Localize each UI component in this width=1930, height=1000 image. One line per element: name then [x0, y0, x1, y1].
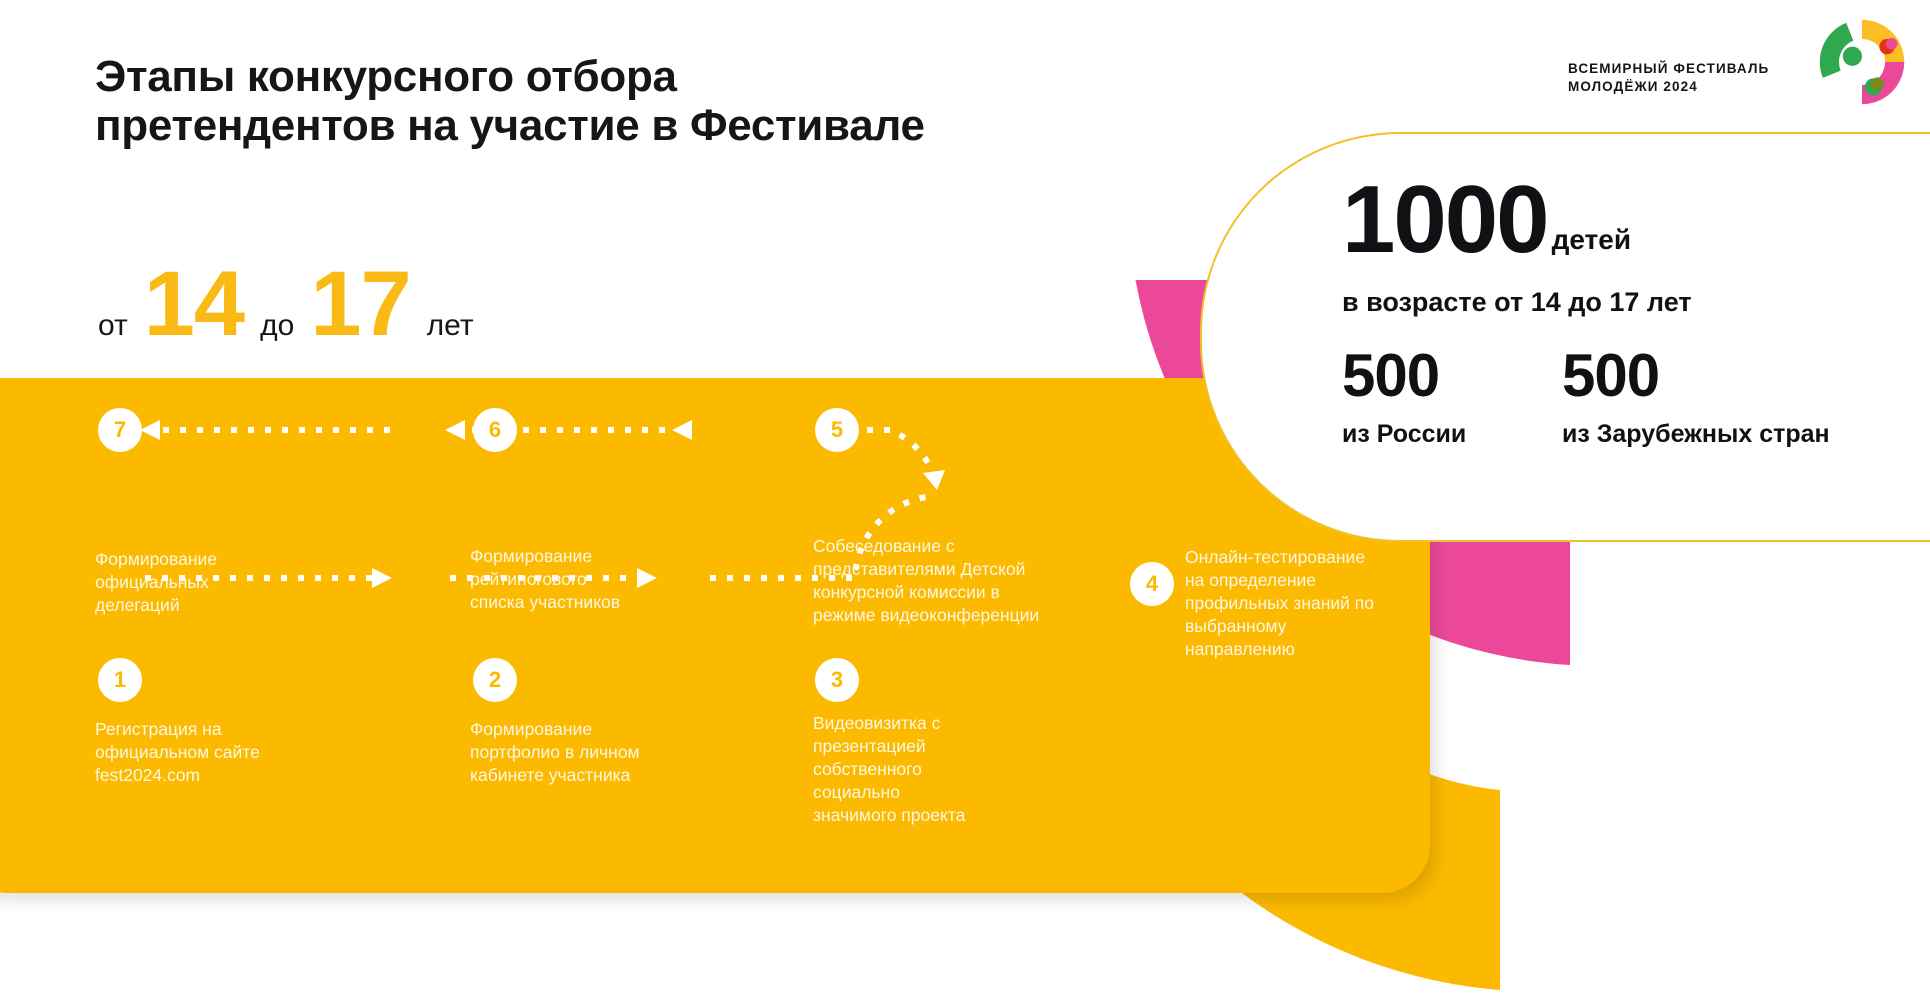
- logo-dot-pink: [1886, 38, 1898, 50]
- step-text-6: Формирование рейтиногового списка участн…: [470, 545, 730, 614]
- logo-wordmark: ВСЕМИРНЫЙ ФЕСТИВАЛЬ МОЛОДЁЖИ 2024: [1568, 60, 1798, 96]
- festival-logo: ВСЕМИРНЫЙ ФЕСТИВАЛЬ МОЛОДЁЖИ 2024: [1568, 14, 1918, 114]
- logo-dot-olive: [1871, 77, 1884, 90]
- step-node-6[interactable]: 6: [473, 408, 517, 452]
- step-node-2[interactable]: 2: [473, 658, 517, 702]
- step-node-7[interactable]: 7: [98, 408, 142, 452]
- step-number-6: 6: [489, 417, 501, 443]
- age-to-value: 17: [310, 258, 410, 350]
- total-value: 1000: [1342, 174, 1548, 265]
- step-number-4: 4: [1146, 571, 1158, 597]
- step-node-5[interactable]: 5: [815, 408, 859, 452]
- step-number-7: 7: [114, 417, 126, 443]
- total-unit-label: детей: [1552, 224, 1631, 265]
- step-node-4[interactable]: 4: [1130, 562, 1174, 606]
- step-number-3: 3: [831, 667, 843, 693]
- step-text-1: Регистрация на официальном сайте fest202…: [95, 718, 355, 787]
- age-note-label: в возрасте от 14 до 17 лет: [1342, 287, 1930, 318]
- infographic-canvas: Этапы конкурсного отбора претендентов на…: [0, 0, 1930, 1000]
- info-card: 1000 детей в возрасте от 14 до 17 лет 50…: [1200, 132, 1930, 542]
- step-text-7: Формирование официальных делегаций: [95, 548, 355, 617]
- age-middle-label: до: [260, 309, 294, 343]
- logo-dot-green: [1843, 47, 1862, 66]
- step-text-4: Онлайн-тестирование на определение профи…: [1185, 546, 1435, 661]
- total-row: 1000 детей: [1342, 174, 1930, 265]
- step-text-5: Собеседование с представителями Детской …: [813, 535, 1113, 627]
- split-foreign-value: 500: [1562, 346, 1902, 406]
- age-from-value: 14: [144, 258, 244, 350]
- festival-arc-logo-icon: [1814, 14, 1910, 110]
- step-number-1: 1: [114, 667, 126, 693]
- step-node-3[interactable]: 3: [815, 658, 859, 702]
- step-number-2: 2: [489, 667, 501, 693]
- age-prefix-label: от: [98, 309, 128, 343]
- age-suffix-label: лет: [427, 309, 474, 343]
- split-row: 500 из России 500 из Зарубежных стран: [1342, 346, 1930, 449]
- split-foreign: 500 из Зарубежных стран: [1562, 346, 1902, 449]
- age-range-line: от 14 до 17 лет: [98, 258, 474, 350]
- step-text-2: Формирование портфолио в личном кабинете…: [470, 718, 740, 787]
- step-text-3: Видеовизитка с презентацией собственного…: [813, 712, 1063, 827]
- split-foreign-label: из Зарубежных стран: [1562, 420, 1902, 449]
- split-russia: 500 из России: [1342, 346, 1562, 449]
- info-card-content: 1000 детей в возрасте от 14 до 17 лет 50…: [1342, 174, 1930, 449]
- split-russia-value: 500: [1342, 346, 1562, 406]
- step-node-1[interactable]: 1: [98, 658, 142, 702]
- step-number-5: 5: [831, 417, 843, 443]
- page-title: Этапы конкурсного отбора претендентов на…: [95, 52, 925, 151]
- split-russia-label: из России: [1342, 420, 1562, 449]
